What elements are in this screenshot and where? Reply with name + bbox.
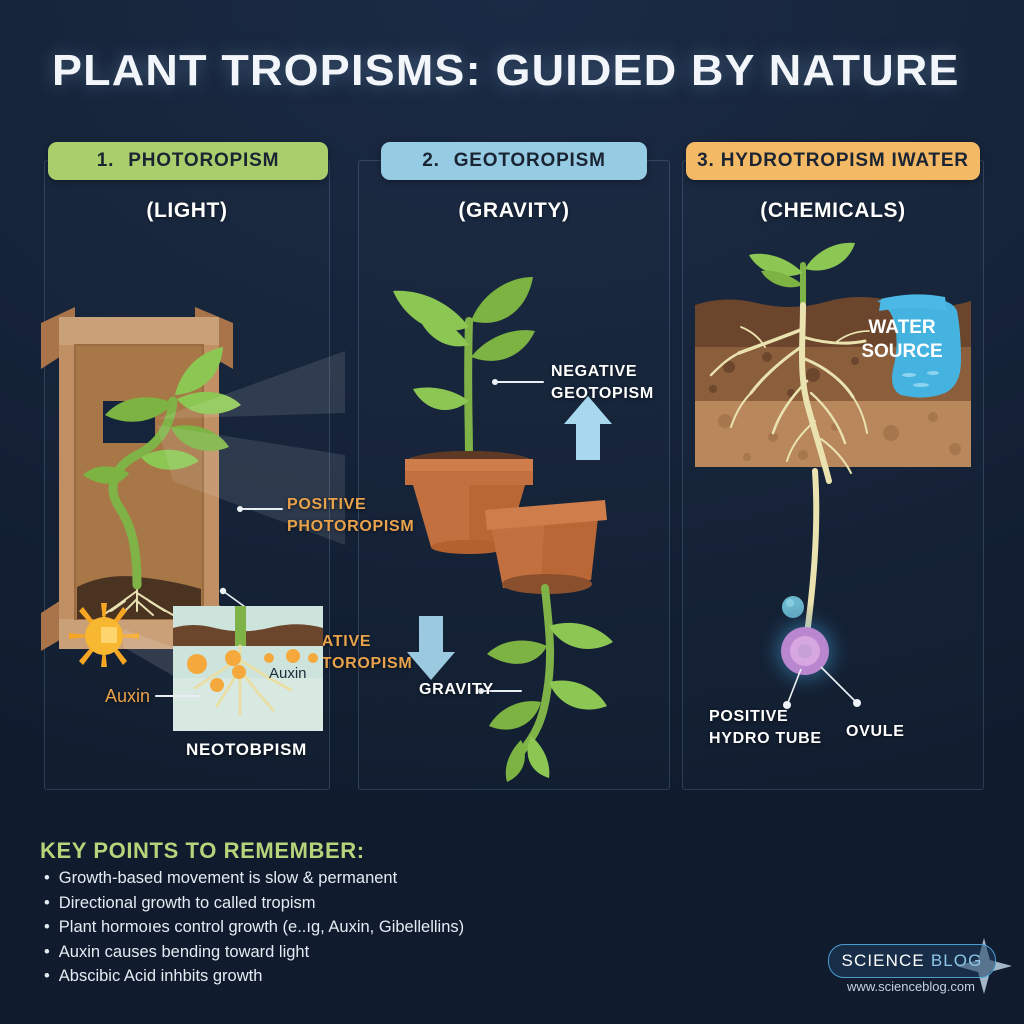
label-ovule: OVULE — [846, 721, 905, 743]
label-auxin-callout: Auxin — [105, 684, 150, 708]
inverted-pot-illustration — [469, 496, 689, 766]
soil-cross-section-illustration: WATER SOURCE — [695, 281, 995, 491]
section-badge-1: 1. PHOTOROPISM — [48, 142, 328, 180]
label-inset-caption: NEOTOBPISM — [186, 739, 307, 762]
logo-url: www.scienceblog.com — [828, 979, 994, 994]
section-title-1: PHOTOROPISM — [128, 150, 279, 172]
label-water-source-line1: WATER — [868, 317, 935, 338]
key-points-heading: KEY POINTS TO REMEMBER: — [40, 838, 365, 864]
section-number-1: 1. — [97, 150, 114, 172]
section-number-3: 3. — [697, 150, 714, 171]
logo-science-text: SCIENCE — [842, 951, 925, 971]
key-point-item: Auxin causes bending toward light — [44, 940, 464, 965]
panel-photoropism: 1. PHOTOROPISM (LIGHT) — [44, 160, 330, 790]
section-subtitle-2: (GRAVITY) — [359, 199, 669, 223]
key-point-item: Growth-based movement is slow & permanen… — [44, 866, 464, 891]
section-subtitle-3: (CHEMICALS) — [683, 199, 983, 223]
svg-text:Auxin: Auxin — [269, 665, 307, 682]
section-subtitle-1: (LIGHT) — [45, 199, 329, 223]
auxin-inset-diagram: Auxin — [173, 606, 323, 731]
page-title: PLANT TROPISMS: GUIDED BY NATURE — [52, 46, 960, 96]
sun-icon — [67, 601, 157, 691]
panel-hydrotropism: 3. HYDROTROPISM IWATER (CHEMICALS) — [682, 160, 984, 790]
leader-line-geotropism — [496, 381, 544, 383]
leader-line-auxin — [155, 695, 201, 697]
label-water-source-line2: SOURCE — [861, 341, 942, 362]
key-points-list: Growth-based movement is slow & permanen… — [44, 866, 464, 989]
label-positive-hydro-tube: POSITIVE HYDRO TUBE — [709, 706, 822, 749]
logo-blog-text: BLOG — [931, 951, 983, 971]
key-point-item: Directional growth to called tropism — [44, 891, 464, 916]
key-point-item: Plant hormoıes control growth (e..ıg, Au… — [44, 915, 464, 940]
key-point-item: Abscibic Acid inhbits growth — [44, 964, 464, 989]
section-title-2: GEOTOROPISM — [454, 150, 606, 172]
section-number-2: 2. — [422, 150, 439, 172]
leader-line-positive — [241, 508, 283, 510]
up-arrow-icon — [562, 396, 622, 466]
section-badge-2: 2. GEOTOROPISM — [381, 142, 647, 180]
infographic-canvas: PLANT TROPISMS: GUIDED BY NATURE 1. PHOT… — [0, 0, 1024, 1024]
down-arrow-icon — [405, 616, 465, 686]
logo-science-blog[interactable]: SCIENCE BLOG — [828, 944, 996, 978]
section-title-3: 3. HYDROTROPISM IWATER — [697, 150, 969, 172]
section-badge-3: 3. HYDROTROPISM IWATER — [686, 142, 980, 180]
label-gravity: GRAVITY — [419, 679, 494, 701]
panel-geotropism: 2. GEOTOROPISM (GRAVITY) — [358, 160, 670, 790]
